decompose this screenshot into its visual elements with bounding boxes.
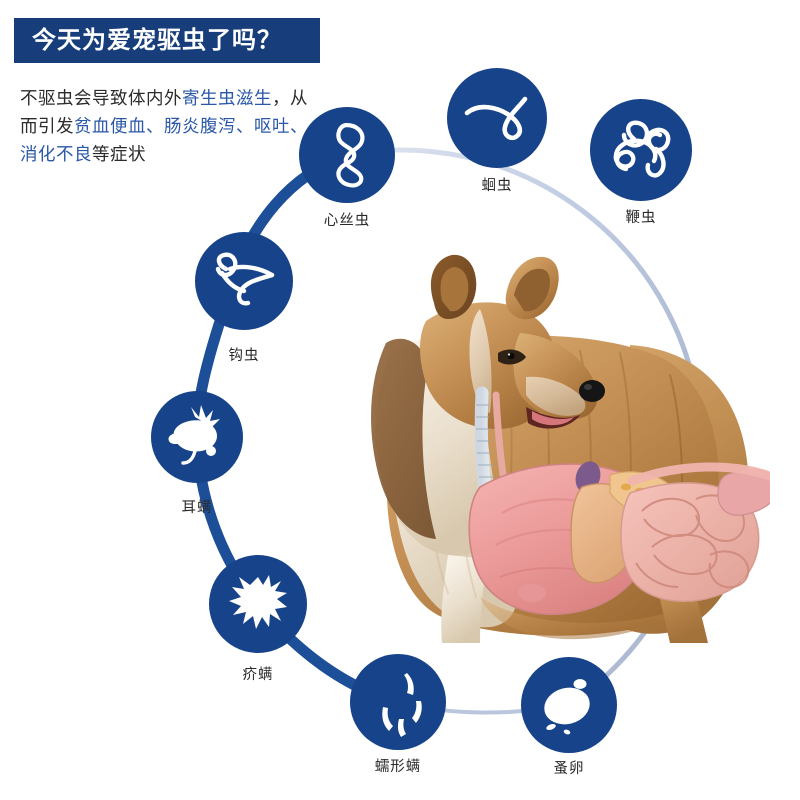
parasite-infographic-poster: 今天为爱宠驱虫了吗？ 不驱虫会导致体内外寄生虫滋生，从而引发贫血便血、肠炎腹泻、… — [0, 0, 800, 800]
node-hookworm[interactable]: 钩虫 — [195, 232, 293, 330]
flea-egg-icon — [536, 672, 602, 738]
node-scabies[interactable]: 疥螨 — [209, 555, 307, 653]
node-heartworm[interactable]: 心丝虫 — [299, 107, 395, 203]
heartworm-icon — [316, 119, 378, 191]
whipworm-bubble[interactable] — [590, 99, 692, 201]
whipworm-icon — [604, 115, 678, 185]
node-demodex[interactable]: 蠕形螨 — [350, 654, 446, 750]
node-label-scabies: 疥螨 — [243, 663, 274, 684]
ear-mite-icon — [165, 405, 229, 469]
node-label-ear-mite: 耳螨 — [182, 496, 213, 517]
body-text-plain-1: 不驱虫会导致体内外 — [20, 88, 182, 108]
body-text-plain-2: ，从 — [272, 88, 308, 108]
scabies-bubble[interactable] — [209, 555, 307, 653]
body-text-highlight-1: 寄生虫滋生 — [182, 88, 272, 108]
body-text-highlight-3: 消化不良 — [20, 144, 92, 164]
node-label-roundworm: 蛔虫 — [482, 174, 513, 195]
node-label-heartworm: 心丝虫 — [324, 209, 371, 230]
body-text-plain-3: 而引发 — [20, 116, 74, 136]
hookworm-icon — [208, 251, 280, 311]
roundworm-bubble[interactable] — [447, 68, 547, 168]
node-roundworm[interactable]: 蛔虫 — [447, 68, 547, 168]
node-label-hookworm: 钩虫 — [229, 344, 260, 365]
node-ear-mite[interactable]: 耳螨 — [151, 391, 243, 483]
title-banner: 今天为爱宠驱虫了吗？ — [14, 18, 320, 63]
body-text-highlight-2: 贫血便血、肠炎腹泻、呕吐、 — [74, 116, 308, 136]
demodex-bubble[interactable] — [350, 654, 446, 750]
page-title: 今天为爱宠驱虫了吗？ — [32, 29, 282, 53]
demodex-icon — [363, 667, 433, 737]
hookworm-bubble[interactable] — [195, 232, 293, 330]
ear-mite-bubble[interactable] — [151, 391, 243, 483]
roundworm-icon — [461, 87, 533, 149]
node-flea-egg[interactable]: 蚤卵 — [521, 657, 617, 753]
body-copy: 不驱虫会导致体内外寄生虫滋生，从而引发贫血便血、肠炎腹泻、呕吐、消化不良等症状 — [20, 84, 320, 168]
node-label-whipworm: 鞭虫 — [626, 206, 657, 227]
flea-egg-bubble[interactable] — [521, 657, 617, 753]
node-label-flea-egg: 蚤卵 — [554, 757, 585, 778]
dog-anatomy-illustration — [330, 225, 770, 645]
node-label-demodex: 蠕形螨 — [375, 755, 422, 776]
heartworm-bubble[interactable] — [299, 107, 395, 203]
scabies-icon — [223, 569, 293, 639]
body-text-plain-4: 等症状 — [92, 144, 146, 164]
node-whipworm[interactable]: 鞭虫 — [590, 99, 692, 201]
